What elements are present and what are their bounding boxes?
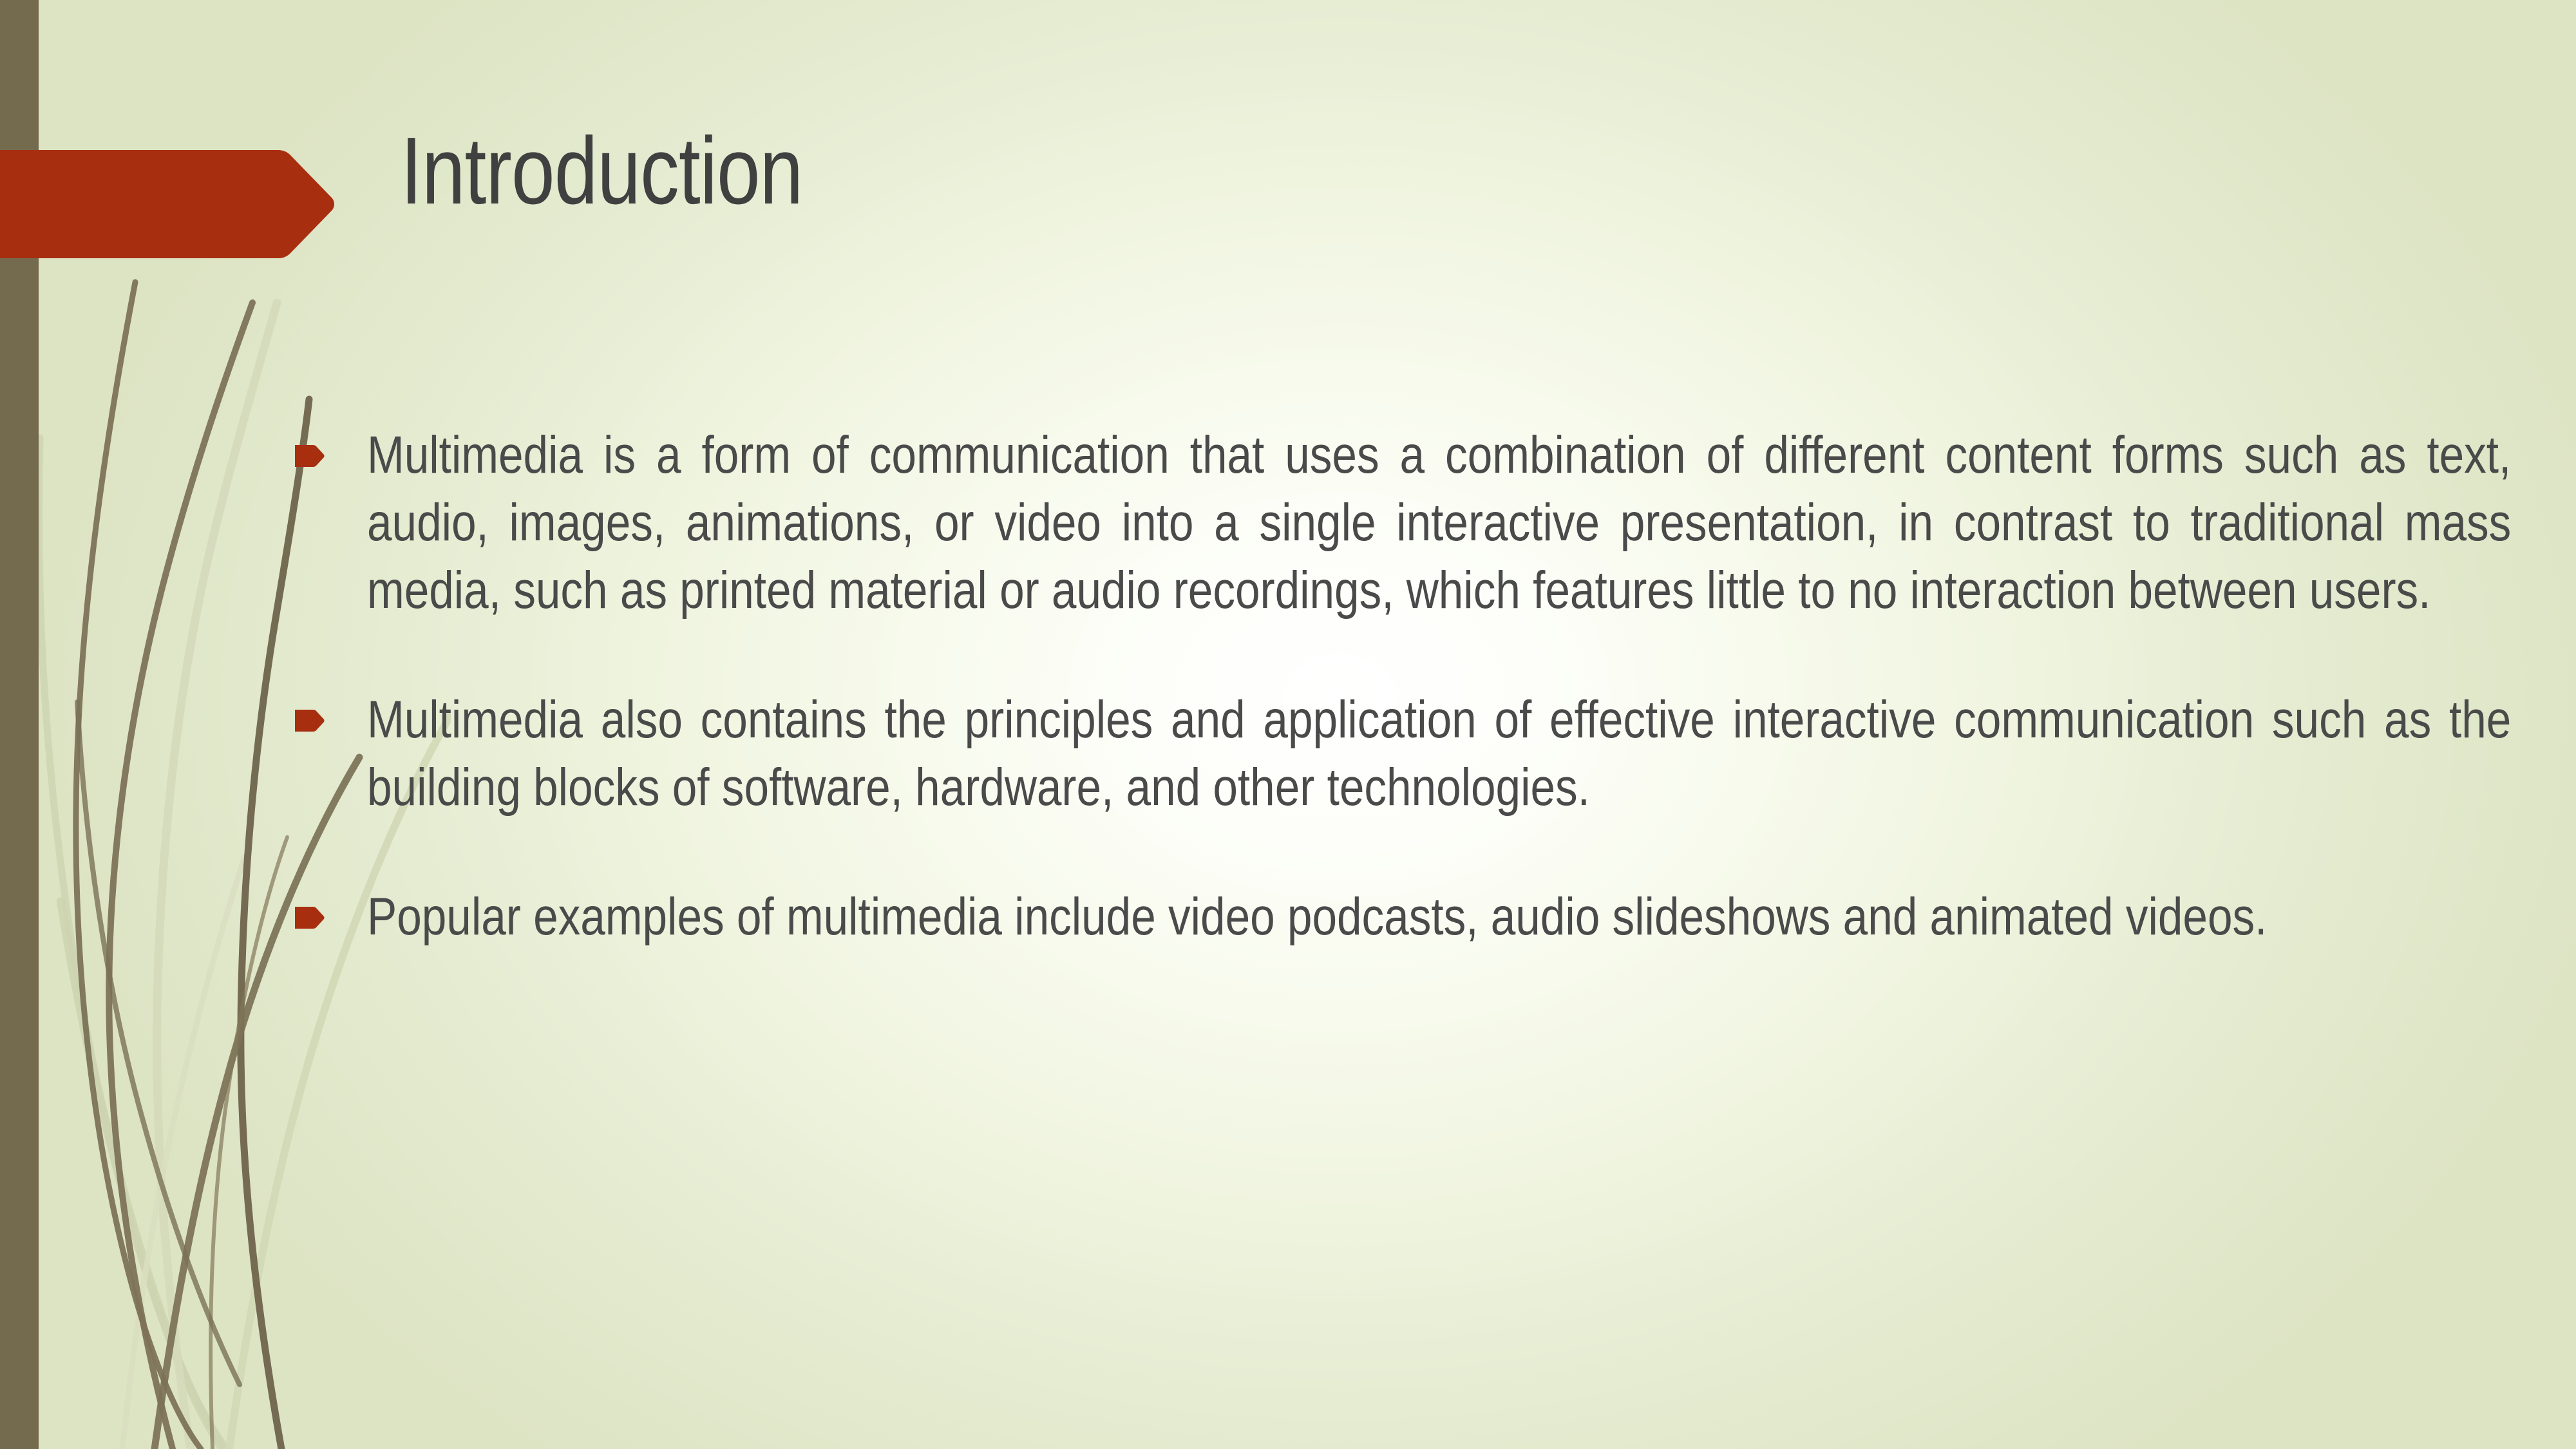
list-item: Multimedia is a form of communication th… [290, 422, 2518, 625]
slide-body: Multimedia is a form of communication th… [290, 422, 2518, 951]
presentation-slide: Introduction Multimedia is a form of com… [0, 0, 2576, 1449]
red-arrow-bullet-icon [295, 905, 325, 930]
list-item-text: Multimedia is a form of communication th… [367, 422, 2511, 625]
red-arrow-bullet-icon [295, 444, 325, 468]
list-item-text: Multimedia also contains the principles … [367, 687, 2511, 822]
red-arrow-bullet-icon [295, 708, 325, 733]
list-item: Multimedia also contains the principles … [290, 687, 2518, 822]
title-banner-arrow [0, 150, 336, 258]
list-item-text: Popular examples of multimedia include v… [367, 884, 2511, 951]
page-title: Introduction [401, 124, 802, 219]
list-item: Popular examples of multimedia include v… [290, 884, 2518, 951]
